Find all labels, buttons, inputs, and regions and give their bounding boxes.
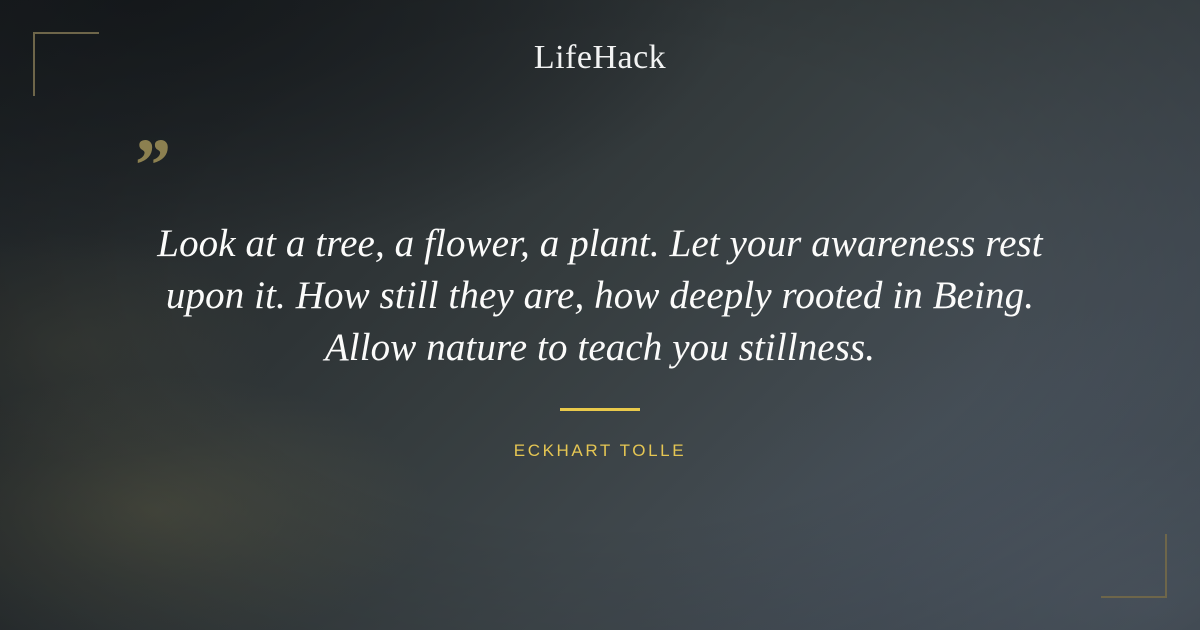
quote-line: Look at a tree, a flower, a plant. Let y… [100,218,1100,270]
lifehack-logo: LifeHack [0,41,1200,75]
quote-card: LifeHack ” Look at a tree, a flower, a p… [0,0,1200,630]
quote-text: Look at a tree, a flower, a plant. Let y… [100,218,1100,374]
corner-bracket-bottom-right [1101,534,1167,598]
quotation-mark-icon: ” [131,128,167,204]
quote-line: upon it. How still they are, how deeply … [100,270,1100,322]
quote-author: ECKHART TOLLE [0,441,1200,461]
quote-line: Allow nature to teach you stillness. [100,322,1100,374]
gold-divider [560,408,640,411]
